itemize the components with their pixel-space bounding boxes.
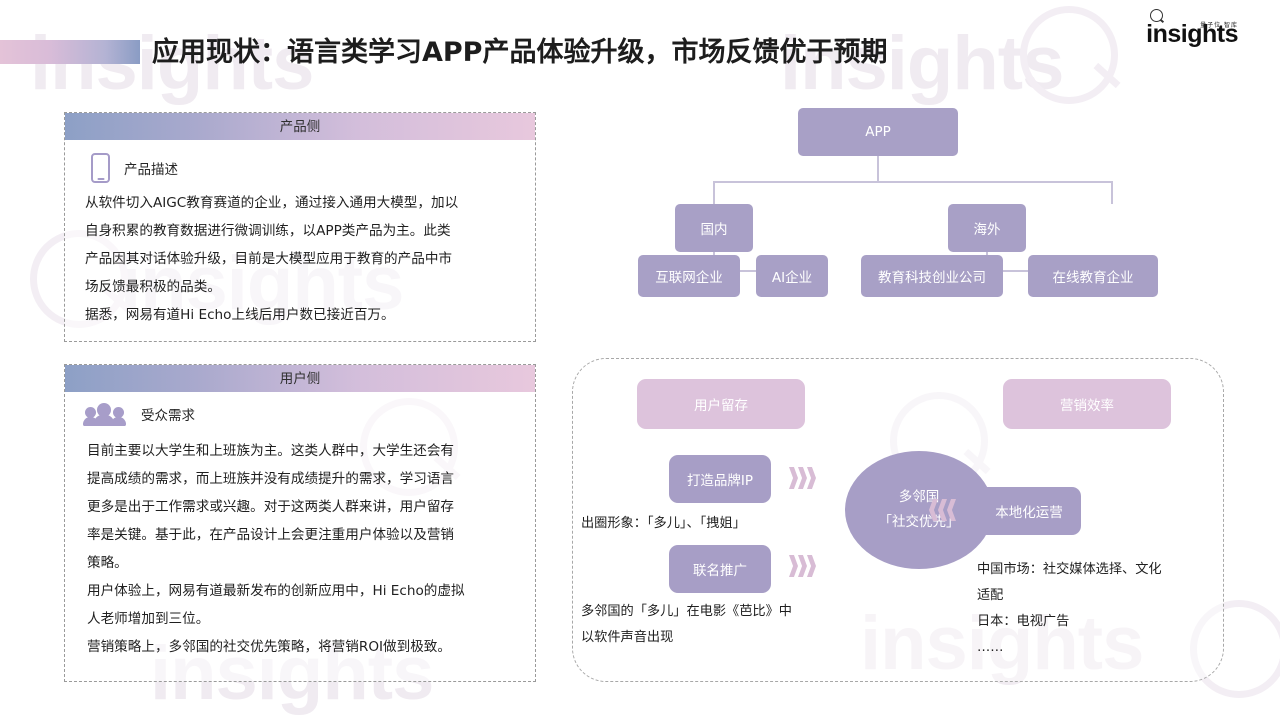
org-node-internet-company: 互联网企业 [638,255,740,297]
strategy-note-left-bottom: 多邻国的「多儿」在电影《芭比》中 以软件声音出现 [581,599,881,651]
strategy-note-right: 中国市场：社交媒体选择、文化 适配 日本：电视广告 …… [977,557,1227,661]
user-subtitle: 受众需求 [141,404,195,424]
org-connector [713,181,1113,183]
org-connector [1111,181,1113,204]
logo-q-icon [1150,9,1163,22]
strategy-center-circle: 多邻国 「社交优先」 [845,451,993,569]
header-accent-bar [0,40,140,64]
org-node-root: APP [798,108,958,156]
user-panel: 用户侧 受众需求 目前主要以大学生和上班族为主。这类人群中，大学生还会有 提高成… [64,364,536,682]
org-node-domestic: 国内 [675,204,753,252]
slide-canvas: insights insights insights insights insi… [0,0,1280,720]
strategy-panel: 用户留存 营销效率 打造品牌IP 联名推广 本地化运营 多邻国 「社交优先」 出… [572,358,1224,682]
brand-logo: 量子位 智库 insights [1146,22,1238,47]
product-body-text: 从软件切入AIGC教育赛道的企业，通过接入通用大模型，加以 自身积累的教育数据进… [85,189,525,329]
strategy-box-marketing-efficiency: 营销效率 [1003,379,1171,429]
people-icon [83,401,127,427]
org-node-ai-company: AI企业 [756,255,828,297]
strategy-box-co-branding: 联名推广 [669,545,771,593]
user-body-text: 目前主要以大学生和上班族为主。这类人群中，大学生还会有 提高成绩的需求，而上班族… [87,437,527,661]
user-panel-header: 用户侧 [65,365,535,392]
slide-header: 应用现状：语言类学习APP产品体验升级，市场反馈优于预期 量子位 智库 insi… [0,0,1280,92]
strategy-center-line2: 「社交优先」 [879,510,960,535]
org-connector [713,181,715,204]
strategy-box-brand-ip: 打造品牌IP [669,455,771,503]
strategy-note-left-top: 出圈形象：「多儿」、「拽姐」 [581,511,881,537]
org-node-edtech-startup: 教育科技创业公司 [861,255,1003,297]
product-subtitle-row: 产品描述 [91,153,178,183]
org-node-overseas: 海外 [948,204,1026,252]
page-title: 应用现状：语言类学习APP产品体验升级，市场反馈优于预期 [152,30,887,69]
product-subtitle: 产品描述 [124,158,178,178]
strategy-box-user-retention: 用户留存 [637,379,805,429]
phone-icon [91,153,110,183]
product-panel-header: 产品侧 [65,113,535,140]
user-subtitle-row: 受众需求 [83,401,195,427]
org-chart: APP 国内 海外 互联网企业 AI企业 教育科技创业公司 在线教育企业 [600,100,1260,310]
logo-chinese-label: 量子位 智库 [1200,20,1238,29]
org-node-online-education: 在线教育企业 [1028,255,1158,297]
org-connector [877,156,879,182]
product-panel: 产品侧 产品描述 从软件切入AIGC教育赛道的企业，通过接入通用大模型，加以 自… [64,112,536,342]
